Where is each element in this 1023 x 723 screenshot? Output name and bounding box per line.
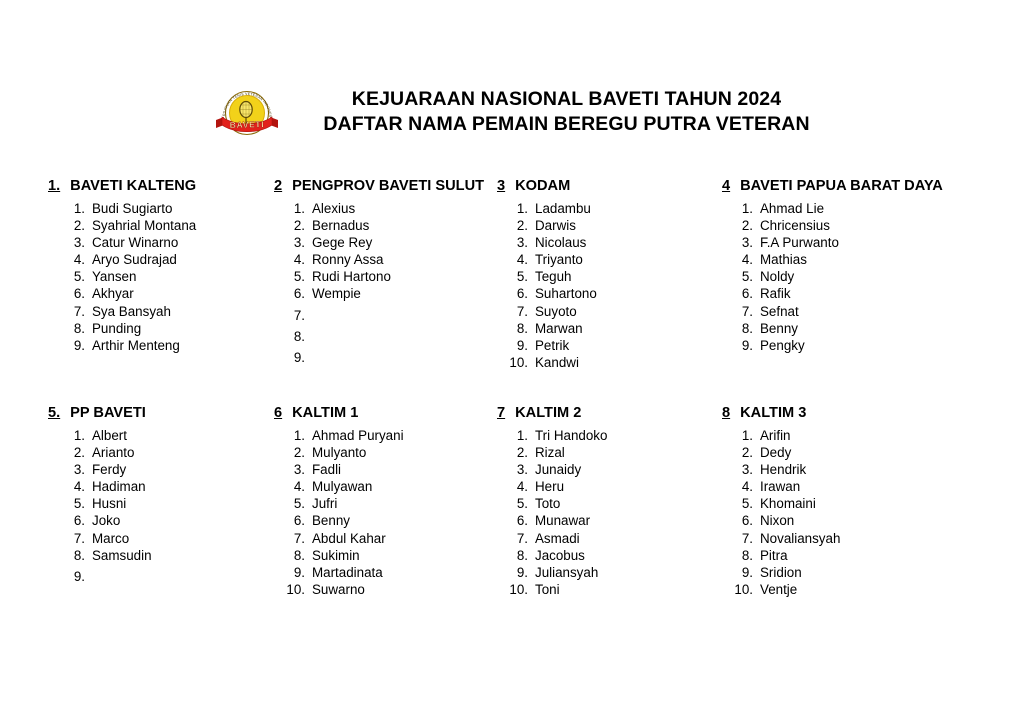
team-number: 6 [274, 405, 282, 422]
player-name: Sridion [760, 564, 962, 581]
player-row: 1.Ahmad Puryani [282, 427, 497, 444]
player-name: Gege Rey [312, 234, 497, 251]
player-row: 3.Nicolaus [505, 234, 722, 251]
player-number: 7. [730, 303, 760, 320]
player-number: 1. [730, 200, 760, 217]
player-number: 8. [730, 320, 760, 337]
player-row: 9.Petrik [505, 337, 722, 354]
player-row: 6.Rafik [730, 285, 962, 302]
teams-grid: 1.BAVETI KALTENG1.Budi Sugiarto2.Syahria… [48, 178, 983, 598]
document-header: PERSATUAN TENIS VETERAN INDONESIA [0, 84, 1023, 138]
player-row: 9.Martadinata [282, 564, 497, 581]
player-row: 4.Mathias [730, 251, 962, 268]
player-name: Jufri [312, 495, 497, 512]
player-row: 3.Gege Rey [282, 234, 497, 251]
player-number: 1. [282, 427, 312, 444]
player-row: 5.Rudi Hartono [282, 268, 497, 285]
player-name: Akhyar [92, 285, 274, 302]
player-row: 1.Budi Sugiarto [62, 200, 274, 217]
player-name: Hadiman [92, 478, 274, 495]
player-row: 9.Sridion [730, 564, 962, 581]
player-row: 6.Suhartono [505, 285, 722, 302]
player-number: 3. [62, 461, 92, 478]
team-name: KODAM [515, 178, 570, 195]
player-name [312, 324, 497, 341]
player-name: Suhartono [535, 285, 722, 302]
player-number: 2. [62, 444, 92, 461]
team-number: 3 [497, 178, 505, 195]
player-number: 5. [505, 495, 535, 512]
player-number: 10. [505, 581, 535, 598]
player-number: 5. [62, 268, 92, 285]
document-title-line-1: KEJUARAAN NASIONAL BAVETI TAHUN 2024 [323, 87, 809, 112]
player-row: 8.Sukimin [282, 547, 497, 564]
player-row: 8.Marwan [505, 320, 722, 337]
player-number: 9. [505, 337, 535, 354]
player-number: 2. [282, 444, 312, 461]
document-page: PERSATUAN TENIS VETERAN INDONESIA [0, 0, 1023, 723]
player-name: Albert [92, 427, 274, 444]
player-name: Hendrik [760, 461, 962, 478]
player-name: Munawar [535, 512, 722, 529]
player-number: 4. [282, 251, 312, 268]
team-block: 5.PP BAVETI1.Albert2.Arianto3.Ferdy4.Had… [48, 405, 274, 598]
title-block: KEJUARAAN NASIONAL BAVETI TAHUN 2024 DAF… [323, 87, 809, 137]
player-number: 2. [282, 217, 312, 234]
player-name: Samsudin [92, 547, 274, 564]
player-name: F.A Purwanto [760, 234, 962, 251]
player-row: 4.Aryo Sudrajad [62, 251, 274, 268]
player-row: 2.Dedy [730, 444, 962, 461]
player-name: Triyanto [535, 251, 722, 268]
player-name: Husni [92, 495, 274, 512]
team-name: KALTIM 2 [515, 405, 581, 422]
player-name: Wempie [312, 285, 497, 302]
player-list: 1.Ahmad Puryani2.Mulyanto3.Fadli4.Mulyaw… [274, 427, 497, 598]
player-number: 7. [62, 530, 92, 547]
player-name: Abdul Kahar [312, 530, 497, 547]
player-number: 8. [505, 547, 535, 564]
team-name: PENGPROV BAVETI SULUT [292, 178, 484, 195]
player-name: Joko [92, 512, 274, 529]
player-row: 6.Benny [282, 512, 497, 529]
player-row: 8.Pitra [730, 547, 962, 564]
player-name: Sya Bansyah [92, 303, 274, 320]
player-number: 10. [505, 354, 535, 371]
player-number: 8. [730, 547, 760, 564]
player-name: Rafik [760, 285, 962, 302]
team-name: BAVETI KALTENG [70, 178, 196, 195]
player-number: 6. [282, 512, 312, 529]
team-number: 5. [48, 405, 60, 422]
player-name: Arifin [760, 427, 962, 444]
player-row: 9.Arthir Menteng [62, 337, 274, 354]
team-block: 7KALTIM 21.Tri Handoko2.Rizal3.Junaidy4.… [497, 405, 722, 598]
team-header: 4BAVETI PAPUA BARAT DAYA [722, 178, 962, 195]
player-row: 8.Benny [730, 320, 962, 337]
player-number: 9. [62, 337, 92, 354]
player-name: Ventje [760, 581, 962, 598]
player-name: Suwarno [312, 581, 497, 598]
player-number: 1. [62, 427, 92, 444]
player-list: 1.Arifin2.Dedy3.Hendrik4.Irawan5.Khomain… [722, 427, 962, 598]
player-name: Arianto [92, 444, 274, 461]
team-block: 1.BAVETI KALTENG1.Budi Sugiarto2.Syahria… [48, 178, 274, 371]
player-name: Kandwi [535, 354, 722, 371]
player-row: 4.Heru [505, 478, 722, 495]
player-row: 7.Novaliansyah [730, 530, 962, 547]
player-number: 10. [730, 581, 760, 598]
player-number: 5. [282, 268, 312, 285]
team-number: 8 [722, 405, 730, 422]
player-row: 8.Samsudin [62, 547, 274, 564]
team-block: 8KALTIM 31.Arifin2.Dedy3.Hendrik4.Irawan… [722, 405, 962, 598]
player-number: 6. [730, 512, 760, 529]
player-name: Khomaini [760, 495, 962, 512]
player-name: Martadinata [312, 564, 497, 581]
player-row: 7.Marco [62, 530, 274, 547]
player-row: 8. [282, 324, 497, 345]
player-row: 4.Ronny Assa [282, 251, 497, 268]
player-row: 6.Munawar [505, 512, 722, 529]
player-number: 2. [730, 444, 760, 461]
player-number: 3. [505, 234, 535, 251]
player-row: 1.Ladambu [505, 200, 722, 217]
player-number: 6. [62, 512, 92, 529]
player-row: 3.Ferdy [62, 461, 274, 478]
player-name: Pengky [760, 337, 962, 354]
player-number: 5. [62, 495, 92, 512]
player-number: 1. [505, 200, 535, 217]
player-number: 3. [282, 461, 312, 478]
baveti-logo: PERSATUAN TENIS VETERAN INDONESIA [213, 86, 281, 138]
player-number: 9. [62, 568, 92, 585]
player-name: Junaidy [535, 461, 722, 478]
player-row: 1.Arifin [730, 427, 962, 444]
player-number: 9. [505, 564, 535, 581]
player-number: 2. [730, 217, 760, 234]
player-row: 6.Wempie [282, 285, 497, 302]
player-row: 9.Pengky [730, 337, 962, 354]
player-number: 4. [505, 251, 535, 268]
player-name: Juliansyah [535, 564, 722, 581]
team-block: 2PENGPROV BAVETI SULUT1.Alexius2.Bernadu… [274, 178, 497, 371]
player-row: 4.Mulyawan [282, 478, 497, 495]
player-name: Noldy [760, 268, 962, 285]
player-number: 4. [62, 251, 92, 268]
player-name: Mulyawan [312, 478, 497, 495]
player-number: 9. [730, 564, 760, 581]
player-number: 4. [62, 478, 92, 495]
player-number: 7. [505, 530, 535, 547]
player-name: Jacobus [535, 547, 722, 564]
player-row: 2.Chricensius [730, 217, 962, 234]
player-row: 3.Fadli [282, 461, 497, 478]
player-name: Nixon [760, 512, 962, 529]
player-name: Arthir Menteng [92, 337, 274, 354]
player-number: 9. [730, 337, 760, 354]
player-row: 7.Asmadi [505, 530, 722, 547]
player-row: 5.Noldy [730, 268, 962, 285]
team-block: 4BAVETI PAPUA BARAT DAYA1.Ahmad Lie2.Chr… [722, 178, 962, 371]
player-name: Heru [535, 478, 722, 495]
player-name: Dedy [760, 444, 962, 461]
player-name: Ahmad Lie [760, 200, 962, 217]
player-name [312, 303, 497, 320]
player-number: 6. [62, 285, 92, 302]
player-row: 9. [62, 564, 274, 585]
player-number: 3. [282, 234, 312, 251]
team-number: 7 [497, 405, 505, 422]
team-number: 2 [274, 178, 282, 195]
player-name: Ronny Assa [312, 251, 497, 268]
player-name: Rudi Hartono [312, 268, 497, 285]
team-header: 7KALTIM 2 [497, 405, 722, 422]
player-row: 2.Bernadus [282, 217, 497, 234]
player-name: Darwis [535, 217, 722, 234]
player-number: 1. [730, 427, 760, 444]
player-row: 9. [282, 345, 497, 366]
baveti-logo-icon: PERSATUAN TENIS VETERAN INDONESIA [213, 86, 281, 138]
player-number: 7. [282, 530, 312, 547]
player-number: 2. [62, 217, 92, 234]
player-row: 7.Sefnat [730, 303, 962, 320]
player-number: 3. [730, 234, 760, 251]
player-name: Nicolaus [535, 234, 722, 251]
player-name [92, 564, 274, 581]
player-name: Bernadus [312, 217, 497, 234]
player-row: 8.Punding [62, 320, 274, 337]
player-name: Fadli [312, 461, 497, 478]
player-name: Toto [535, 495, 722, 512]
player-number: 2. [505, 444, 535, 461]
player-row: 5.Husni [62, 495, 274, 512]
player-row: 9.Juliansyah [505, 564, 722, 581]
team-name: KALTIM 1 [292, 405, 358, 422]
document-title-line-2: DAFTAR NAMA PEMAIN BEREGU PUTRA VETERAN [323, 112, 809, 137]
team-header: 8KALTIM 3 [722, 405, 962, 422]
player-row: 5.Teguh [505, 268, 722, 285]
player-name: Novaliansyah [760, 530, 962, 547]
player-row: 7.Abdul Kahar [282, 530, 497, 547]
player-name: Suyoto [535, 303, 722, 320]
player-name: Benny [760, 320, 962, 337]
player-number: 7. [62, 303, 92, 320]
player-list: 1.Tri Handoko2.Rizal3.Junaidy4.Heru5.Tot… [497, 427, 722, 598]
player-row: 2.Mulyanto [282, 444, 497, 461]
team-block: 6KALTIM 11.Ahmad Puryani2.Mulyanto3.Fadl… [274, 405, 497, 598]
player-list: 1.Ahmad Lie2.Chricensius3.F.A Purwanto4.… [722, 200, 962, 354]
player-list: 1.Budi Sugiarto2.Syahrial Montana3.Catur… [48, 200, 274, 354]
player-name: Ladambu [535, 200, 722, 217]
player-name: Aryo Sudrajad [92, 251, 274, 268]
player-row: 7.Suyoto [505, 303, 722, 320]
player-number: 4. [282, 478, 312, 495]
player-number: 7. [730, 530, 760, 547]
player-number: 5. [282, 495, 312, 512]
player-name: Asmadi [535, 530, 722, 547]
player-name: Ahmad Puryani [312, 427, 497, 444]
player-name: Mathias [760, 251, 962, 268]
player-number: 1. [62, 200, 92, 217]
player-number: 5. [505, 268, 535, 285]
player-number: 8. [505, 320, 535, 337]
team-name: BAVETI PAPUA BARAT DAYA [740, 178, 943, 195]
player-row: 6.Akhyar [62, 285, 274, 302]
player-number: 5. [730, 268, 760, 285]
svg-text:BAVETI: BAVETI [230, 119, 265, 130]
player-row: 10.Toni [505, 581, 722, 598]
player-row: 7. [282, 303, 497, 324]
player-name: Punding [92, 320, 274, 337]
player-name: Irawan [760, 478, 962, 495]
player-number: 8. [282, 547, 312, 564]
player-number: 9. [282, 564, 312, 581]
player-number: 3. [505, 461, 535, 478]
player-row: 1.Ahmad Lie [730, 200, 962, 217]
team-header: 5.PP BAVETI [48, 405, 274, 422]
player-row: 8.Jacobus [505, 547, 722, 564]
player-row: 1.Albert [62, 427, 274, 444]
player-name: Marwan [535, 320, 722, 337]
player-name: Marco [92, 530, 274, 547]
player-number: 3. [62, 234, 92, 251]
player-row: 10.Kandwi [505, 354, 722, 371]
player-row: 5.Khomaini [730, 495, 962, 512]
player-row: 2.Rizal [505, 444, 722, 461]
player-number: 6. [730, 285, 760, 302]
player-row: 3.Catur Winarno [62, 234, 274, 251]
player-row: 2.Syahrial Montana [62, 217, 274, 234]
player-name: Sukimin [312, 547, 497, 564]
player-row: 1.Alexius [282, 200, 497, 217]
team-name: PP BAVETI [70, 405, 146, 422]
team-block: 3KODAM1.Ladambu2.Darwis3.Nicolaus4.Triya… [497, 178, 722, 371]
player-list: 1.Ladambu2.Darwis3.Nicolaus4.Triyanto5.T… [497, 200, 722, 371]
player-number: 8. [282, 328, 312, 345]
player-number: 7. [505, 303, 535, 320]
team-number: 1. [48, 178, 60, 195]
player-name: Sefnat [760, 303, 962, 320]
player-row: 5.Yansen [62, 268, 274, 285]
player-name: Ferdy [92, 461, 274, 478]
player-name [312, 345, 497, 362]
player-number: 9. [282, 349, 312, 366]
player-row: 7.Sya Bansyah [62, 303, 274, 320]
team-header: 2PENGPROV BAVETI SULUT [274, 178, 497, 195]
player-list: 1.Alexius2.Bernadus3.Gege Rey4.Ronny Ass… [274, 200, 497, 366]
player-number: 6. [505, 512, 535, 529]
player-name: Rizal [535, 444, 722, 461]
player-name: Syahrial Montana [92, 217, 274, 234]
player-row: 5.Toto [505, 495, 722, 512]
player-name: Toni [535, 581, 722, 598]
player-row: 3.Hendrik [730, 461, 962, 478]
player-row: 6.Nixon [730, 512, 962, 529]
player-name: Benny [312, 512, 497, 529]
player-number: 4. [730, 251, 760, 268]
team-header: 6KALTIM 1 [274, 405, 497, 422]
team-number: 4 [722, 178, 730, 195]
player-name: Chricensius [760, 217, 962, 234]
player-name: Petrik [535, 337, 722, 354]
player-number: 4. [505, 478, 535, 495]
player-row: 2.Darwis [505, 217, 722, 234]
team-name: KALTIM 3 [740, 405, 806, 422]
player-name: Catur Winarno [92, 234, 274, 251]
player-number: 2. [505, 217, 535, 234]
player-number: 3. [730, 461, 760, 478]
player-name: Mulyanto [312, 444, 497, 461]
player-row: 4.Hadiman [62, 478, 274, 495]
player-row: 5.Jufri [282, 495, 497, 512]
player-name: Alexius [312, 200, 497, 217]
player-list: 1.Albert2.Arianto3.Ferdy4.Hadiman5.Husni… [48, 427, 274, 585]
player-row: 1.Tri Handoko [505, 427, 722, 444]
player-number: 1. [282, 200, 312, 217]
team-header: 1.BAVETI KALTENG [48, 178, 274, 195]
player-row: 4.Triyanto [505, 251, 722, 268]
player-number: 1. [505, 427, 535, 444]
player-name: Yansen [92, 268, 274, 285]
player-number: 8. [62, 320, 92, 337]
player-number: 6. [505, 285, 535, 302]
player-number: 8. [62, 547, 92, 564]
player-row: 6.Joko [62, 512, 274, 529]
player-row: 10.Suwarno [282, 581, 497, 598]
player-number: 7. [282, 307, 312, 324]
team-header: 3KODAM [497, 178, 722, 195]
player-number: 10. [282, 581, 312, 598]
player-name: Teguh [535, 268, 722, 285]
player-row: 3.F.A Purwanto [730, 234, 962, 251]
player-number: 6. [282, 285, 312, 302]
player-row: 10.Ventje [730, 581, 962, 598]
player-number: 5. [730, 495, 760, 512]
player-number: 4. [730, 478, 760, 495]
player-name: Budi Sugiarto [92, 200, 274, 217]
player-name: Tri Handoko [535, 427, 722, 444]
player-name: Pitra [760, 547, 962, 564]
player-row: 4.Irawan [730, 478, 962, 495]
player-row: 3.Junaidy [505, 461, 722, 478]
player-row: 2.Arianto [62, 444, 274, 461]
